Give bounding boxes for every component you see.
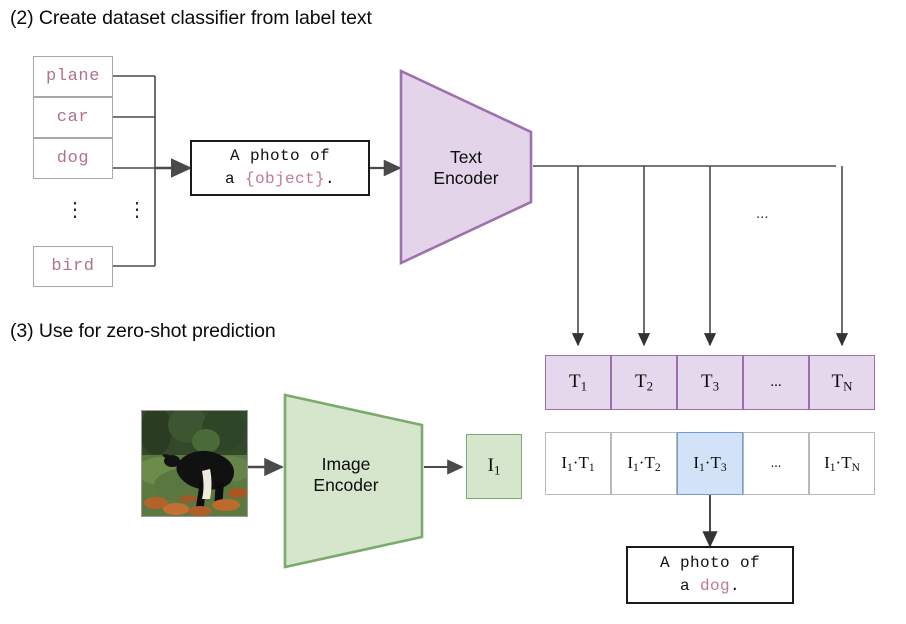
class-label-box-dog[interactable]: dog (33, 138, 113, 179)
similarity-expression: I1·TN (824, 453, 860, 474)
text-embedding-cell-1: T1 (545, 355, 611, 410)
class-label-text: car (57, 108, 89, 127)
text-embedding-cell-2: T2 (611, 355, 677, 410)
clip-diagram-canvas: (2) Create dataset classifier from label… (0, 0, 906, 624)
class-label-text: dog (57, 149, 89, 168)
step3-heading: (3) Use for zero-shot prediction (10, 320, 276, 343)
prompt-line2-prefix: a (225, 170, 245, 188)
similarity-expression: I1·T1 (561, 453, 594, 474)
class-list-ellipsis-icon: ⋮ (65, 200, 81, 220)
bus-ellipsis-icon: ⋮ (127, 200, 143, 220)
step2-heading: (2) Create dataset classifier from label… (10, 7, 372, 30)
similarity-expression: I1·T2 (627, 453, 660, 474)
label-collector-bus (113, 76, 155, 266)
prediction-class-token: dog (700, 577, 730, 595)
text-embedding-cell-3: T3 (677, 355, 743, 410)
text-embedding-symbol: T1 (569, 371, 587, 395)
similarity-cell-1[interactable]: I1·T1 (545, 432, 611, 495)
similarity-ellipsis: ... (771, 456, 782, 472)
class-label-text: plane (46, 67, 100, 86)
text-embedding-ellipsis: ... (770, 374, 781, 391)
text-embedding-symbol: TN (832, 371, 853, 395)
prompt-line-1: A photo of (230, 145, 330, 168)
similarity-expression: I1·T3 (693, 453, 726, 474)
prompt-object-slot: {object} (245, 170, 325, 188)
text-encoder-trapezoid-shape (398, 68, 534, 266)
class-label-box-bird[interactable]: bird (33, 246, 113, 287)
class-label-box-car[interactable]: car (33, 97, 113, 138)
prompt-line-2: a {object}. (225, 168, 335, 191)
image-encoder-block: Image Encoder (282, 392, 428, 570)
class-label-text: bird (51, 257, 94, 276)
similarity-cell-n[interactable]: I1·TN (809, 432, 875, 495)
prediction-line-1: A photo of (660, 552, 760, 575)
text-embedding-symbol: T3 (701, 371, 719, 395)
prompt-line2-suffix: . (325, 170, 335, 188)
text-bus-ellipsis: ... (756, 205, 769, 222)
similarity-cell-2[interactable]: I1·T2 (611, 432, 677, 495)
text-embedding-symbol: T2 (635, 371, 653, 395)
image-embedding-symbol: I1 (488, 455, 501, 479)
prediction-output-box: A photo of a dog. (626, 546, 794, 604)
prediction-line-2: a dog. (680, 575, 740, 598)
prompt-template-box: A photo of a {object}. (190, 140, 370, 196)
input-photo-thumbnail[interactable] (141, 410, 248, 517)
text-embedding-cell-n: TN (809, 355, 875, 410)
text-embedding-cell-ellipsis: ... (743, 355, 809, 410)
image-embedding-box: I1 (466, 434, 522, 499)
image-encoder-trapezoid-shape (282, 392, 428, 570)
similarity-cell-3-selected[interactable]: I1·T3 (677, 432, 743, 495)
class-label-box-plane[interactable]: plane (33, 56, 113, 97)
similarity-cell-ellipsis: ... (743, 432, 809, 495)
dog-photo-illustration (142, 411, 247, 516)
prediction-line2-suffix: . (730, 577, 740, 595)
text-encoder-block: Text Encoder (398, 68, 534, 266)
prediction-line2-prefix: a (680, 577, 700, 595)
